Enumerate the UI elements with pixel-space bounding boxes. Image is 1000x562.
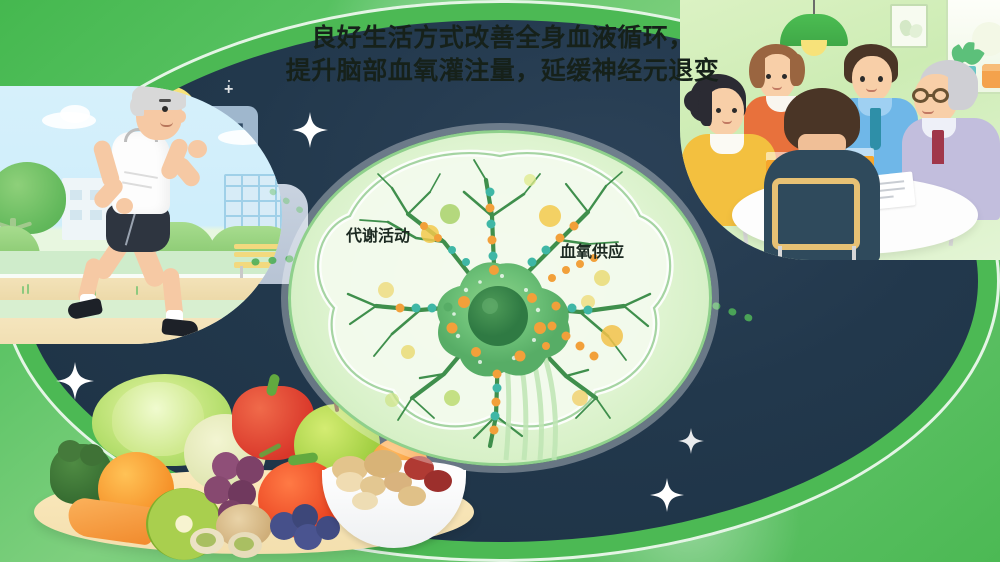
sparkle-star <box>56 362 94 400</box>
label-blood-oxygen-supply: 血氧供应 <box>560 238 624 262</box>
infographic-canvas: 良好生活方式改善全身血液循环， 提升脑部血氧灌注量，延缓神经元退变 <box>0 0 1000 562</box>
sparkle-star <box>678 428 704 454</box>
label-metabolic-activity: 代谢活动 <box>346 222 410 246</box>
title-line-2: 提升脑部血氧灌注量，延缓神经元退变 <box>245 55 760 88</box>
page-title: 良好生活方式改善全身血液循环， 提升脑部血氧灌注量，延缓神经元退变 <box>245 22 760 87</box>
neuron-illustration <box>288 130 712 466</box>
neuron-nucleus <box>468 286 528 346</box>
sparkle-star <box>292 112 328 148</box>
neuron-diagram: 代谢活动 血氧供应 <box>288 130 712 466</box>
title-line-1: 良好生活方式改善全身血液循环， <box>245 22 760 55</box>
sparkle-star <box>650 478 684 512</box>
